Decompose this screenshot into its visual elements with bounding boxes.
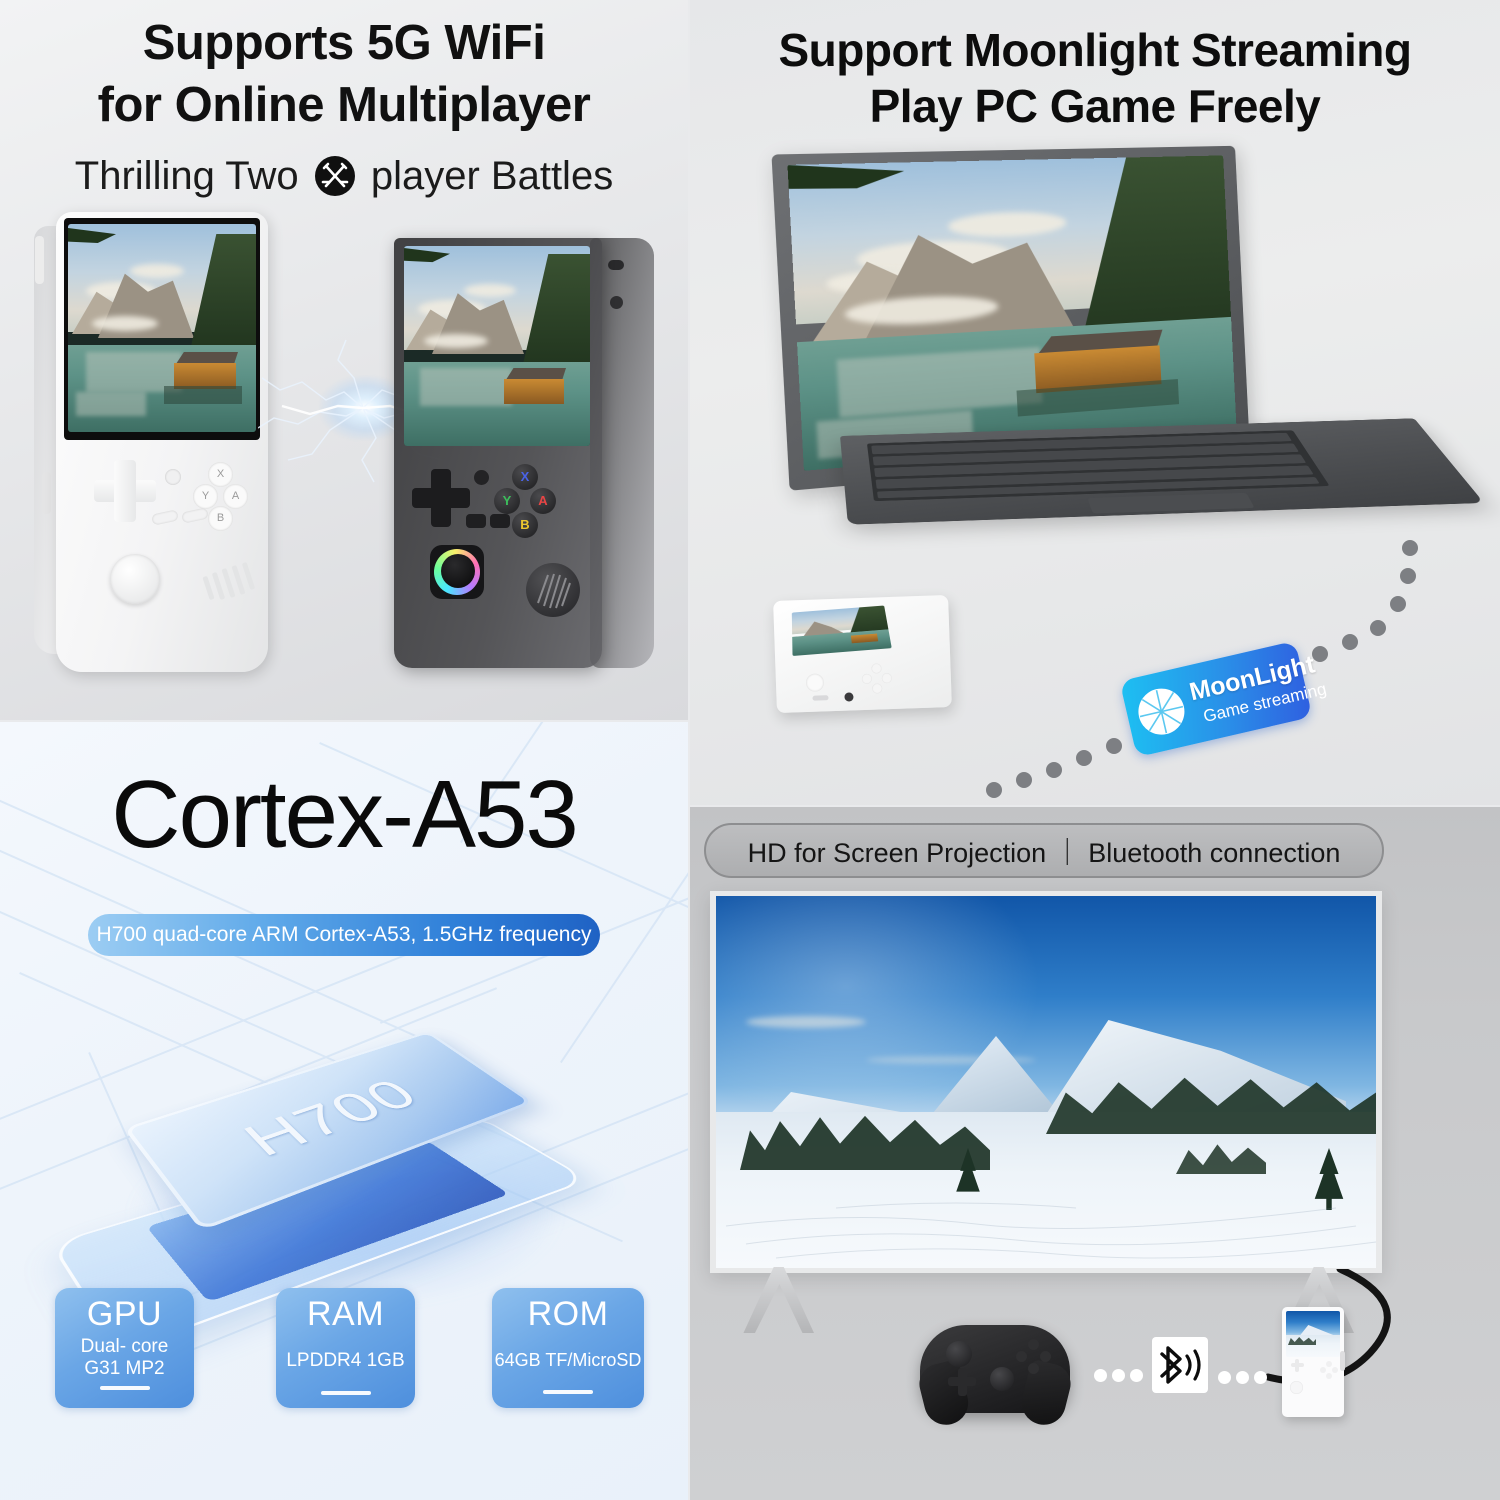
button-y[interactable]: Y (193, 484, 218, 509)
laptop-keyboard[interactable] (867, 430, 1330, 501)
button-x[interactable]: X (208, 462, 233, 487)
console-side-button[interactable] (1340, 1351, 1345, 1371)
white-handheld-console (1282, 1307, 1344, 1417)
wifi-subtitle-after: player Battles (371, 154, 613, 198)
crossed-swords-icon (315, 156, 355, 196)
gamepad-button-a[interactable] (1028, 1363, 1039, 1374)
gamepad-dpad-v[interactable] (958, 1368, 967, 1396)
lake-wallpaper (787, 155, 1236, 470)
reset-button[interactable] (610, 296, 623, 309)
volume-button[interactable] (35, 236, 44, 284)
power-button[interactable] (608, 260, 624, 270)
spec-underline (543, 1390, 593, 1394)
speaker-grill (204, 562, 258, 610)
button-x[interactable] (871, 663, 881, 673)
panel-hd-bluetooth: HD for Screen Projection ｜ Bluetooth con… (690, 807, 1500, 1500)
console-screen (792, 606, 892, 657)
card-slot (42, 472, 51, 514)
moonlight-heading-line1: Support Moonlight Streaming (690, 22, 1500, 78)
spec-card-ram: RAM LPDDR4 1GB (276, 1288, 415, 1408)
button-b[interactable] (872, 683, 882, 693)
white-handheld-console (773, 595, 952, 713)
gamepad-right-stick[interactable] (990, 1367, 1014, 1391)
button-a[interactable]: A (530, 488, 556, 514)
panel-5g-wifi: Supports 5G WiFi for Online Multiplayer … (0, 0, 688, 720)
power-button[interactable] (474, 470, 489, 485)
button-x[interactable]: X (512, 464, 538, 490)
moonlight-heading: Support Moonlight Streaming Play PC Game… (690, 22, 1500, 134)
wifi-subtitle-before: Thrilling Two (75, 154, 299, 198)
start-button[interactable] (490, 514, 510, 528)
headphone-jack (844, 692, 853, 701)
joystick[interactable] (441, 554, 475, 588)
button-x[interactable] (1326, 1361, 1332, 1367)
wifi-heading-line1: Supports 5G WiFi (0, 12, 688, 74)
joystick[interactable] (1290, 1381, 1303, 1394)
spec-title: ROM (492, 1295, 644, 1334)
gamepad-button-x[interactable] (1016, 1351, 1027, 1362)
spec-title: RAM (276, 1295, 415, 1334)
button-a[interactable] (882, 673, 892, 683)
button-y[interactable] (1320, 1367, 1326, 1373)
joystick[interactable] (806, 673, 825, 692)
bluetooth-icon (1156, 1344, 1204, 1386)
select-button[interactable] (466, 514, 486, 528)
power-button[interactable] (165, 469, 181, 485)
wifi-heading: Supports 5G WiFi for Online Multiplayer (0, 12, 688, 136)
tv-screen (716, 896, 1376, 1268)
gamepad (920, 1315, 1070, 1425)
console-screen (404, 246, 590, 446)
gamepad-button-b[interactable] (1040, 1351, 1051, 1362)
laptop (780, 150, 1440, 580)
spec-card-gpu: GPU Dual- core G31 MP2 (55, 1288, 194, 1408)
dpad-vertical[interactable] (431, 469, 451, 527)
spec-line1: 64GB TF/MicroSD (492, 1350, 644, 1371)
hd-bluetooth-pill: HD for Screen Projection ｜ Bluetooth con… (704, 823, 1384, 878)
spec-card-rom: ROM 64GB TF/MicroSD (492, 1288, 644, 1408)
infographic-page: Supports 5G WiFi for Online Multiplayer … (0, 0, 1500, 1500)
button-y[interactable] (862, 674, 872, 684)
dpad-vertical[interactable] (114, 460, 136, 522)
panel-moonlight-streaming: Support Moonlight Streaming Play PC Game… (690, 0, 1500, 805)
moonlight-badge[interactable]: MoonLight Game streaming (1120, 641, 1313, 757)
console-screen (68, 224, 256, 432)
spec-underline (321, 1391, 371, 1395)
white-handheld-console: X Y A B (34, 212, 284, 672)
laptop-screen (787, 155, 1236, 470)
tv-leg-left (742, 1267, 814, 1333)
button-y[interactable]: Y (494, 488, 520, 514)
spec-line2: G31 MP2 (55, 1358, 194, 1380)
wifi-subtitle: Thrilling Two player Battles (0, 152, 688, 200)
lake-wallpaper (68, 224, 256, 432)
spec-underline (100, 1386, 150, 1390)
gamepad-left-stick[interactable] (946, 1341, 972, 1367)
speaker-grill (526, 563, 580, 617)
cortex-title: Cortex-A53 (0, 760, 688, 870)
spec-line1: Dual- core (55, 1336, 194, 1358)
button-a[interactable] (1332, 1367, 1338, 1373)
dpad-vertical[interactable] (1295, 1359, 1299, 1372)
console-screen (1286, 1311, 1340, 1357)
laptop-trackpad[interactable] (1087, 493, 1254, 514)
panel-cortex-a53: Cortex-A53 H700 quad-core ARM Cortex-A53… (0, 722, 688, 1500)
cortex-subtitle-badge: H700 quad-core ARM Cortex-A53, 1.5GHz fr… (88, 914, 600, 956)
lake-wallpaper (404, 246, 590, 446)
button-b[interactable] (1326, 1373, 1332, 1379)
wifi-heading-line2: for Online Multiplayer (0, 74, 688, 136)
usb-c-port (812, 695, 828, 701)
spec-line1: LPDDR4 1GB (276, 1350, 415, 1372)
gamepad-button-y[interactable] (1028, 1339, 1039, 1350)
spec-title: GPU (55, 1295, 194, 1334)
television (710, 891, 1382, 1273)
bluetooth-card (1152, 1337, 1208, 1393)
moonlight-heading-line2: Play PC Game Freely (690, 78, 1500, 134)
h700-chip: H700 (55, 990, 633, 1330)
moonlight-pinwheel-icon (1134, 684, 1189, 739)
transparent-handheld-console: X Y A B (394, 238, 654, 678)
button-a[interactable]: A (223, 484, 248, 509)
button-b[interactable]: B (512, 512, 538, 538)
joystick[interactable] (110, 554, 160, 604)
laptop-base (840, 418, 1484, 524)
button-b[interactable]: B (208, 506, 233, 531)
